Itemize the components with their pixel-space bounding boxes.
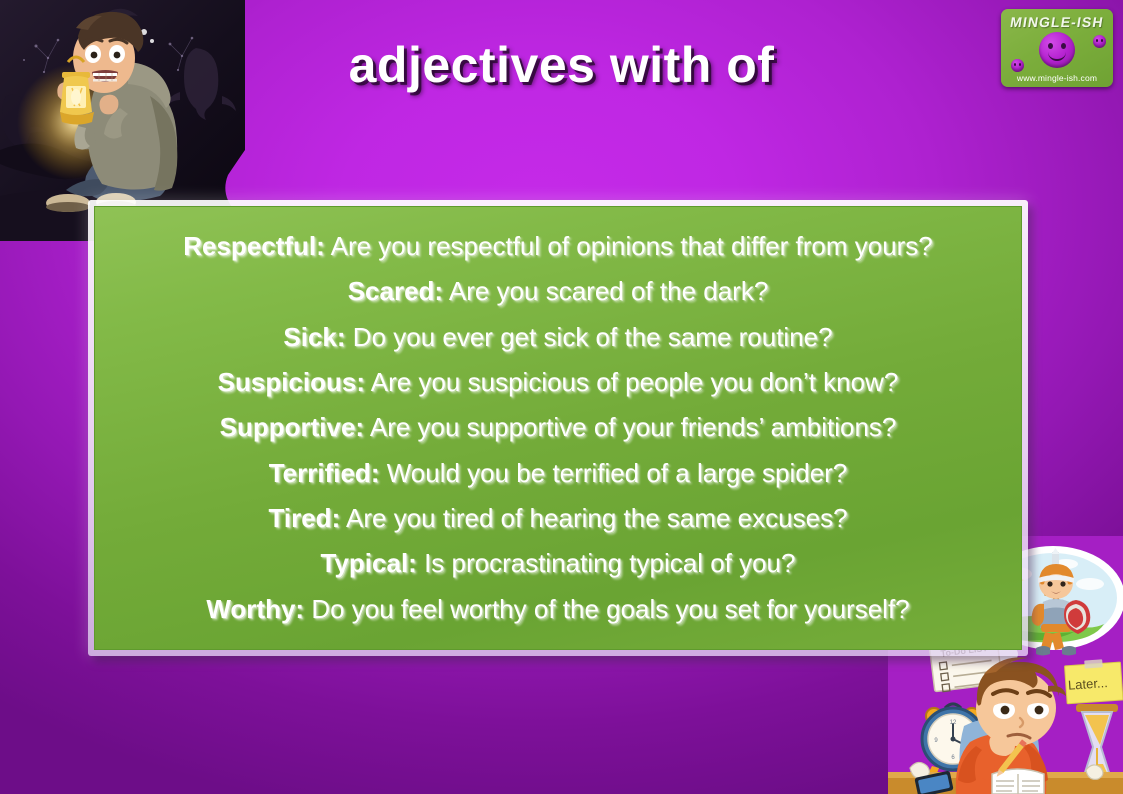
question-adjective: Supportive:	[220, 412, 364, 442]
question-text: Are you supportive of your friends’ ambi…	[364, 412, 896, 442]
question-line: Tired: Are you tired of hearing the same…	[109, 505, 1007, 532]
question-text: Are you tired of hearing the same excuse…	[340, 503, 847, 533]
question-adjective: Scared:	[348, 276, 443, 306]
logo-smiley-large-icon	[1039, 32, 1075, 68]
svg-text:12: 12	[950, 720, 957, 726]
question-line: Supportive: Are you supportive of your f…	[109, 414, 1007, 441]
question-adjective: Worthy:	[206, 594, 304, 624]
question-adjective: Terrified:	[269, 458, 380, 488]
question-adjective: Typical:	[321, 548, 417, 578]
logo-smiley-small-left-icon	[1011, 59, 1024, 72]
question-text: Are you suspicious of people you don’t k…	[365, 367, 898, 397]
question-line: Respectful: Are you respectful of opinio…	[109, 233, 1007, 260]
question-line: Terrified: Would you be terrified of a l…	[109, 460, 1007, 487]
sticky-note-text: Later...	[1067, 675, 1108, 693]
logo-website-url: www.mingle-ish.com	[1001, 73, 1113, 83]
question-text: Do you ever get sick of the same routine…	[346, 322, 833, 352]
question-text: Are you scared of the dark?	[443, 276, 768, 306]
questions-list: Respectful: Are you respectful of opinio…	[94, 206, 1022, 650]
question-adjective: Sick:	[283, 322, 345, 352]
question-line: Scared: Are you scared of the dark?	[109, 278, 1007, 305]
mingle-ish-logo[interactable]: MINGLE-ISH www.mingle-ish.com	[1001, 9, 1113, 87]
question-adjective: Suspicious:	[218, 367, 365, 397]
question-text: Would you be terrified of a large spider…	[379, 458, 847, 488]
question-text: Are you respectful of opinions that diff…	[325, 231, 933, 261]
question-text: Is procrastinating typical of you?	[417, 548, 796, 578]
logo-brand-text: MINGLE-ISH	[1001, 14, 1113, 30]
logo-smiley-small-right-icon	[1093, 35, 1106, 48]
slide-canvas: adjectives with of MINGLE-ISH www.mingle…	[0, 0, 1123, 794]
question-adjective: Respectful:	[183, 231, 325, 261]
question-line: Typical: Is procrastinating typical of y…	[109, 550, 1007, 577]
question-line: Sick: Do you ever get sick of the same r…	[109, 324, 1007, 351]
question-line: Worthy: Do you feel worthy of the goals …	[109, 596, 1007, 623]
question-line: Suspicious: Are you suspicious of people…	[109, 369, 1007, 396]
questions-panel: Respectful: Are you respectful of opinio…	[88, 200, 1028, 656]
question-text: Do you feel worthy of the goals you set …	[304, 594, 910, 624]
question-adjective: Tired:	[268, 503, 340, 533]
